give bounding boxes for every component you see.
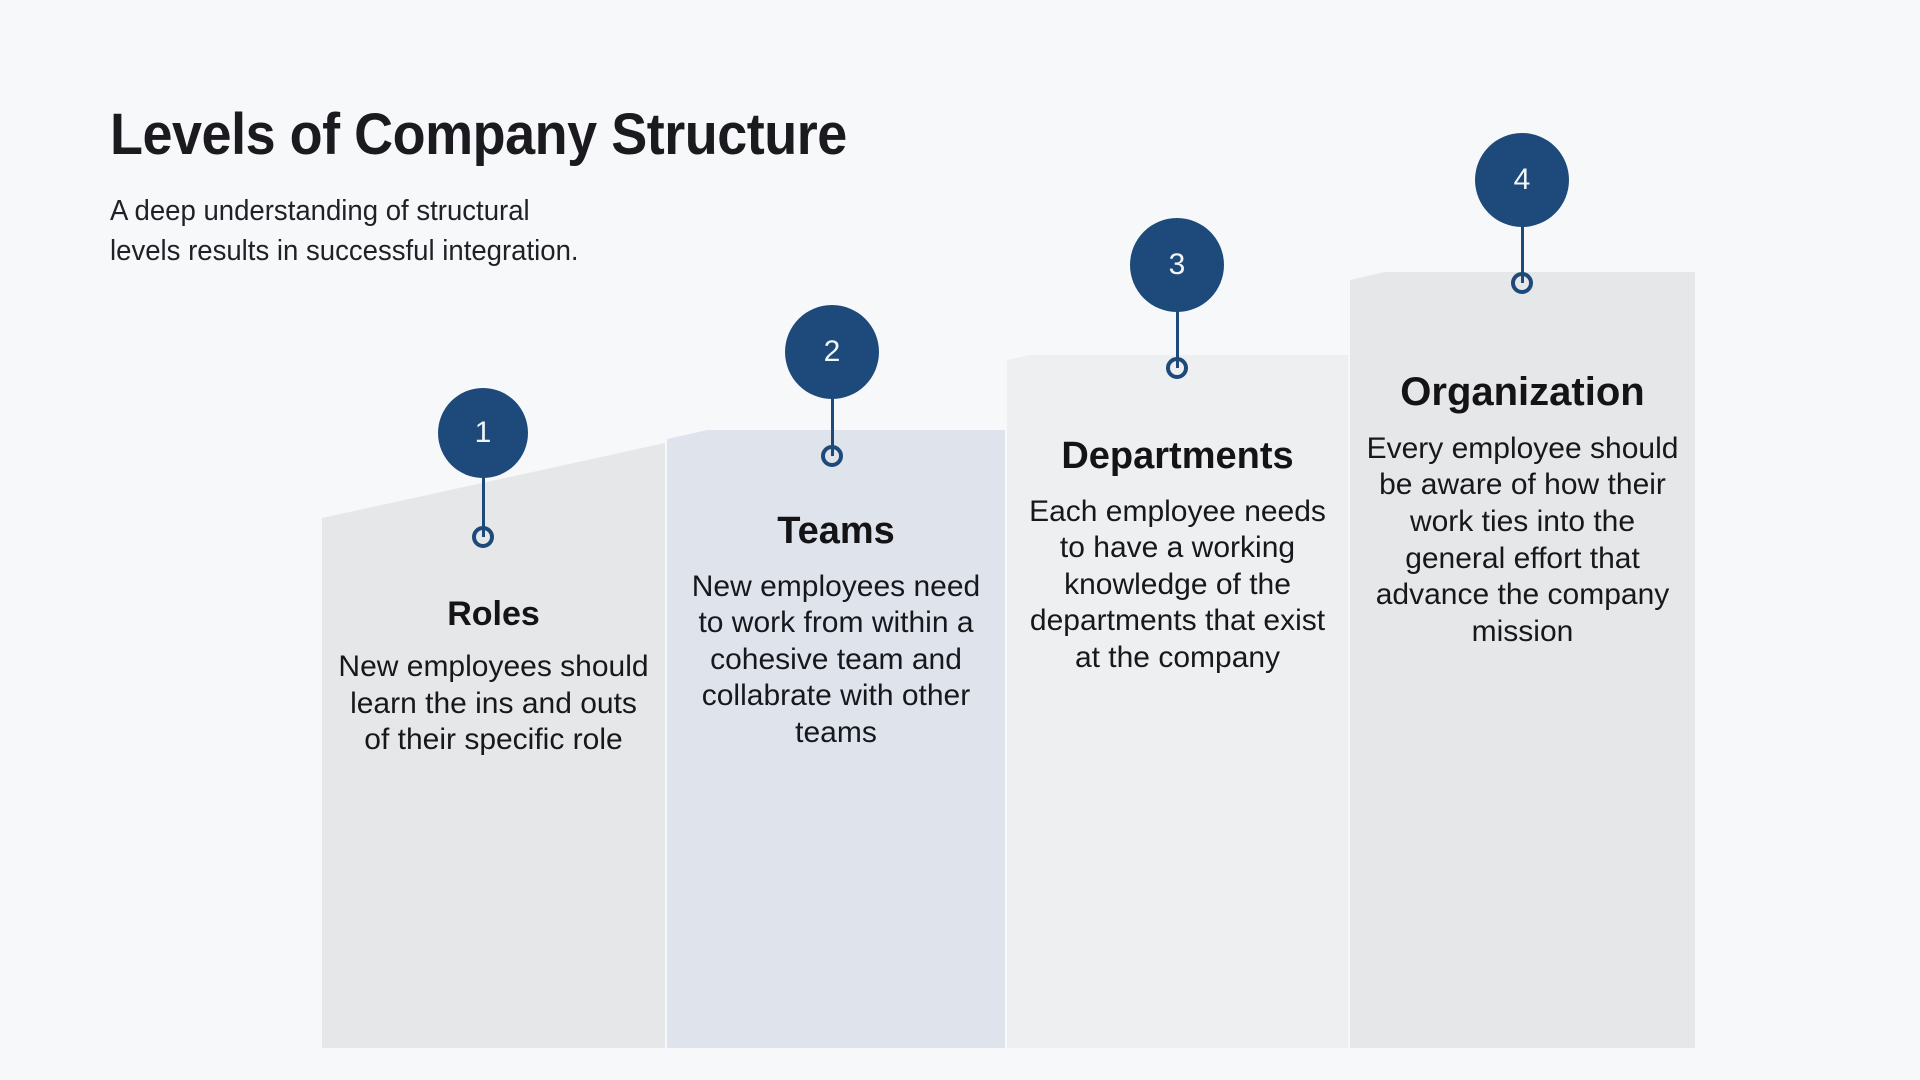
marker-circle-2: 2 [785, 305, 879, 399]
level-title-teams: Teams [681, 510, 991, 553]
levels-chart: Roles New employees should learn the ins… [0, 0, 1920, 1080]
level-body-departments: Each employee needs to have a working kn… [1021, 494, 1334, 677]
marker-ring-2 [821, 445, 843, 467]
marker-circle-1: 1 [438, 388, 528, 478]
level-title-roles: Roles [336, 595, 651, 633]
marker-number-2: 2 [824, 337, 841, 367]
level-title-organization: Organization [1364, 370, 1681, 415]
level-body-organization: Every employee should be aware of how th… [1364, 431, 1681, 651]
marker-number-1: 1 [475, 418, 492, 448]
level-marker-1[interactable]: 1 [435, 388, 531, 548]
level-body-teams: New employees need to work from within a… [681, 569, 991, 752]
marker-number-4: 4 [1514, 165, 1531, 195]
level-marker-4[interactable]: 4 [1474, 133, 1570, 293]
marker-number-3: 3 [1169, 250, 1186, 280]
marker-ring-3 [1166, 357, 1188, 379]
level-marker-2[interactable]: 2 [784, 305, 880, 465]
marker-ring-4 [1511, 272, 1533, 294]
level-body-roles: New employees should learn the ins and o… [336, 649, 651, 759]
level-marker-3[interactable]: 3 [1129, 218, 1225, 378]
level-column-organization[interactable]: Organization Every employee should be aw… [1350, 272, 1695, 1048]
marker-ring-1 [472, 526, 494, 548]
infographic-canvas: Levels of Company Structure A deep under… [0, 0, 1920, 1080]
marker-circle-3: 3 [1130, 218, 1224, 312]
level-column-teams[interactable]: Teams New employees need to work from wi… [667, 430, 1005, 1048]
marker-circle-4: 4 [1475, 133, 1569, 227]
level-title-departments: Departments [1021, 435, 1334, 478]
level-column-departments[interactable]: Departments Each employee needs to have … [1007, 355, 1348, 1048]
